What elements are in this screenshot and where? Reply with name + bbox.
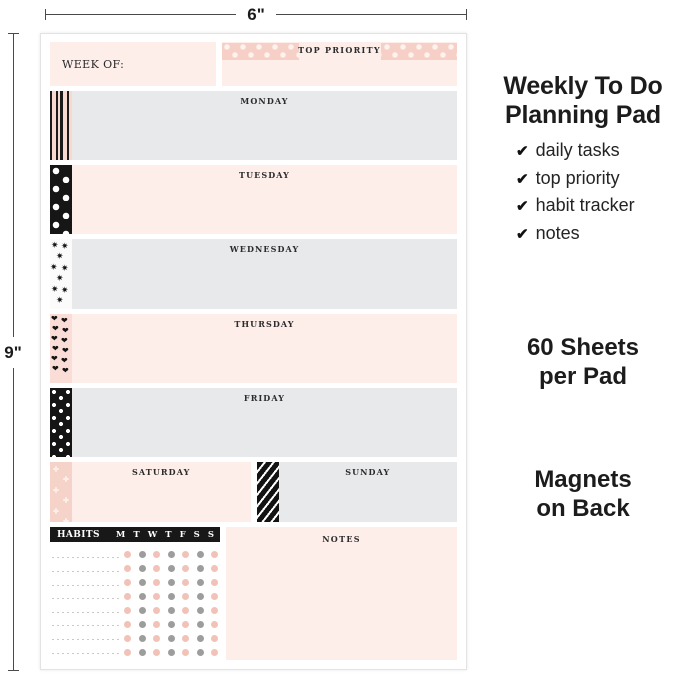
- top-priority-label: TOP PRIORITY: [222, 45, 457, 55]
- habit-write-in-line[interactable]: [52, 625, 120, 626]
- habit-dot[interactable]: [153, 551, 160, 558]
- habit-dot[interactable]: [182, 621, 189, 628]
- day-label-sunday: SUNDAY: [279, 462, 458, 477]
- day-body-monday[interactable]: MONDAY: [72, 91, 457, 160]
- habit-dot[interactable]: [153, 621, 160, 628]
- habit-dot[interactable]: [124, 593, 131, 600]
- habit-day-initials: M T W T F S S: [100, 530, 214, 540]
- height-dimension-ruler: 9": [2, 33, 24, 671]
- sheet-count-callout: 60 Sheets per Pad: [490, 334, 676, 392]
- habit-write-in-line[interactable]: [52, 557, 120, 558]
- day-body-saturday[interactable]: SATURDAY: [72, 462, 251, 522]
- heart-glyph: ❤: [51, 315, 58, 323]
- dimension-line-right: [276, 14, 466, 15]
- day-body-sunday[interactable]: SUNDAY: [279, 462, 458, 522]
- planner-pad: WEEK OF: TOP PRIORITY MONDAY TUESDAY: [40, 33, 467, 670]
- habit-dot[interactable]: [153, 579, 160, 586]
- habit-dot[interactable]: [182, 593, 189, 600]
- dimension-line-left: [46, 14, 236, 15]
- habit-dot[interactable]: [168, 565, 175, 572]
- habit-dot-row: [124, 649, 218, 656]
- habit-dot[interactable]: [153, 635, 160, 642]
- habit-dot[interactable]: [124, 635, 131, 642]
- heart-glyph: ❤: [62, 367, 69, 375]
- product-title-line2: Planning Pad: [490, 101, 676, 130]
- feature-item: ✔ top priority: [516, 168, 676, 190]
- habit-day-initial: W: [148, 530, 158, 540]
- habit-dot[interactable]: [182, 565, 189, 572]
- dimension-line-top: [13, 34, 14, 337]
- star-glyph: ✷: [56, 252, 64, 261]
- day-row-friday[interactable]: FRIDAY: [50, 388, 457, 457]
- star-glyph: ✷: [56, 296, 64, 305]
- habit-dot[interactable]: [139, 607, 146, 614]
- feature-item: ✔ notes: [516, 223, 676, 245]
- week-of-box[interactable]: WEEK OF:: [50, 42, 216, 86]
- habit-dot[interactable]: [168, 621, 175, 628]
- day-row-wednesday[interactable]: ✷ ✷ ✷ ✷ ✷ ✷ ✷ ✷ ✷ WEDNESDAY: [50, 239, 457, 308]
- habit-day-initial: S: [194, 530, 200, 540]
- week-of-label: WEEK OF:: [50, 58, 124, 71]
- planner-pad-content: WEEK OF: TOP PRIORITY MONDAY TUESDAY: [50, 42, 457, 660]
- check-icon: ✔: [516, 226, 529, 244]
- habit-day-initial: T: [165, 530, 171, 540]
- habit-dot[interactable]: [153, 607, 160, 614]
- day-label-friday: FRIDAY: [72, 388, 457, 403]
- notes-box[interactable]: NOTES: [226, 527, 457, 660]
- feature-label: daily tasks: [536, 140, 620, 162]
- habit-tracker-header: HABITS M T W T F S S: [50, 527, 220, 542]
- habit-dot[interactable]: [153, 593, 160, 600]
- product-title: Weekly To Do Planning Pad: [490, 72, 676, 130]
- habit-dot[interactable]: [211, 635, 218, 642]
- habit-dot[interactable]: [139, 579, 146, 586]
- weekend-row: SATURDAY SUNDAY: [50, 462, 457, 522]
- habit-dot[interactable]: [168, 649, 175, 656]
- habit-dot[interactable]: [197, 579, 204, 586]
- washi-tape-star-icon: ✷ ✷ ✷ ✷ ✷ ✷ ✷ ✷ ✷: [50, 239, 72, 308]
- habit-dot[interactable]: [211, 579, 218, 586]
- habit-write-in-line[interactable]: [52, 653, 120, 654]
- habit-day-initial: T: [133, 530, 139, 540]
- day-body-wednesday[interactable]: WEDNESDAY: [72, 239, 457, 308]
- habit-dot[interactable]: [153, 565, 160, 572]
- habit-tracker[interactable]: HABITS M T W T F S S: [50, 527, 220, 660]
- feature-label: top priority: [536, 168, 620, 190]
- width-dimension-ruler: 6": [45, 3, 467, 25]
- heart-glyph: ❤: [61, 337, 68, 345]
- habit-dot[interactable]: [168, 607, 175, 614]
- dimension-cap-bottom: [8, 670, 19, 671]
- habit-dot[interactable]: [139, 621, 146, 628]
- habit-write-in-line[interactable]: [52, 571, 120, 572]
- washi-tape-stripes-icon: [50, 91, 72, 160]
- height-dimension-label: 9": [4, 337, 22, 368]
- star-glyph: ✷: [50, 263, 58, 272]
- habit-dot[interactable]: [211, 565, 218, 572]
- sheet-count-line2: per Pad: [490, 363, 676, 392]
- dimension-cap-right: [466, 9, 467, 20]
- washi-tape-diagonal-stripe-icon: [257, 462, 279, 522]
- product-title-line1: Weekly To Do: [490, 72, 676, 101]
- notes-label: NOTES: [226, 527, 457, 544]
- top-priority-box[interactable]: TOP PRIORITY: [222, 42, 457, 86]
- habit-dot[interactable]: [197, 635, 204, 642]
- day-row-thursday[interactable]: ❤ ❤ ❤ ❤ ❤ ❤ ❤ ❤ ❤ ❤ ❤ ❤ THURSDAY: [50, 314, 457, 383]
- pad-header-row: WEEK OF: TOP PRIORITY: [50, 42, 457, 86]
- habit-dot[interactable]: [124, 649, 131, 656]
- check-icon: ✔: [516, 171, 529, 189]
- heart-glyph: ❤: [52, 345, 59, 353]
- habit-tracker-title: HABITS: [57, 530, 100, 540]
- habit-dot[interactable]: [139, 565, 146, 572]
- washi-tape-floral-icon: [50, 462, 72, 522]
- washi-tape-small-dot-icon: [50, 388, 72, 457]
- habit-checkbox-dots[interactable]: [124, 547, 220, 660]
- day-row-tuesday[interactable]: TUESDAY: [50, 165, 457, 234]
- star-glyph: ✷: [51, 241, 59, 250]
- day-body-friday[interactable]: FRIDAY: [72, 388, 457, 457]
- habit-dot[interactable]: [182, 551, 189, 558]
- habit-dot[interactable]: [168, 593, 175, 600]
- day-row-sunday[interactable]: SUNDAY: [257, 462, 458, 522]
- heart-glyph: ❤: [52, 365, 59, 373]
- habit-dot-row: [124, 621, 218, 628]
- sheet-count-line1: 60 Sheets: [490, 334, 676, 363]
- habit-dot[interactable]: [182, 607, 189, 614]
- habit-dot[interactable]: [211, 607, 218, 614]
- day-body-thursday[interactable]: THURSDAY: [72, 314, 457, 383]
- washi-tape-heart-icon: ❤ ❤ ❤ ❤ ❤ ❤ ❤ ❤ ❤ ❤ ❤ ❤: [50, 314, 72, 383]
- habit-dot[interactable]: [139, 649, 146, 656]
- day-row-saturday[interactable]: SATURDAY: [50, 462, 251, 522]
- habit-dot-row: [124, 635, 218, 642]
- habit-dot[interactable]: [211, 649, 218, 656]
- habit-dot[interactable]: [153, 649, 160, 656]
- habit-dot[interactable]: [139, 551, 146, 558]
- day-label-wednesday: WEDNESDAY: [72, 239, 457, 254]
- habit-dot[interactable]: [211, 551, 218, 558]
- day-row-monday[interactable]: MONDAY: [50, 91, 457, 160]
- habit-dot[interactable]: [197, 607, 204, 614]
- magnet-callout: Magnets on Back: [490, 466, 676, 524]
- star-glyph: ✷: [61, 242, 69, 251]
- habit-dot[interactable]: [197, 649, 204, 656]
- heart-glyph: ❤: [61, 317, 68, 325]
- habit-dot[interactable]: [182, 649, 189, 656]
- dimension-line-bottom: [13, 368, 14, 671]
- heart-glyph: ❤: [62, 327, 69, 335]
- habit-dot[interactable]: [139, 635, 146, 642]
- heart-glyph: ❤: [52, 325, 59, 333]
- habit-write-in-line[interactable]: [52, 585, 120, 586]
- habit-dot[interactable]: [211, 593, 218, 600]
- habit-day-initial: F: [180, 530, 186, 540]
- width-dimension-label: 6": [236, 6, 276, 23]
- habit-dot[interactable]: [124, 565, 131, 572]
- habit-dot[interactable]: [197, 565, 204, 572]
- washi-tape-polka-dot-icon: [50, 165, 72, 234]
- magnet-line2: on Back: [490, 495, 676, 524]
- star-glyph: ✷: [51, 285, 59, 294]
- habit-dot[interactable]: [124, 551, 131, 558]
- habit-dot[interactable]: [124, 579, 131, 586]
- day-label-tuesday: TUESDAY: [72, 165, 457, 180]
- feature-list: ✔ daily tasks ✔ top priority ✔ habit tra…: [490, 140, 676, 244]
- feature-label: habit tracker: [536, 195, 635, 217]
- habit-write-in-line[interactable]: [52, 612, 120, 613]
- habit-dot-row: [124, 565, 218, 572]
- habit-dot[interactable]: [197, 621, 204, 628]
- heart-glyph: ❤: [62, 347, 69, 355]
- magnet-line1: Magnets: [490, 466, 676, 495]
- habit-dot[interactable]: [197, 551, 204, 558]
- star-glyph: ✷: [56, 274, 64, 283]
- habit-dot-row: [124, 551, 218, 558]
- feature-label: notes: [536, 223, 580, 245]
- day-label-thursday: THURSDAY: [72, 314, 457, 329]
- habit-dot[interactable]: [168, 551, 175, 558]
- habit-day-initial: S: [208, 530, 214, 540]
- habit-dot[interactable]: [139, 593, 146, 600]
- habit-write-in-lines[interactable]: [50, 547, 124, 660]
- heart-glyph: ❤: [51, 355, 58, 363]
- star-glyph: ✷: [61, 264, 69, 273]
- day-body-tuesday[interactable]: TUESDAY: [72, 165, 457, 234]
- habit-dot[interactable]: [124, 607, 131, 614]
- habit-dot[interactable]: [168, 579, 175, 586]
- check-icon: ✔: [516, 143, 529, 161]
- heart-glyph: ❤: [61, 357, 68, 365]
- habit-dot[interactable]: [124, 621, 131, 628]
- habit-dot-row: [124, 593, 218, 600]
- habit-dot-row: [124, 579, 218, 586]
- feature-item: ✔ daily tasks: [516, 140, 676, 162]
- habit-dot-row: [124, 607, 218, 614]
- check-icon: ✔: [516, 198, 529, 216]
- day-label-saturday: SATURDAY: [72, 462, 251, 477]
- habit-dot[interactable]: [168, 635, 175, 642]
- heart-glyph: ❤: [51, 335, 58, 343]
- habit-dot[interactable]: [197, 593, 204, 600]
- habit-dot[interactable]: [211, 621, 218, 628]
- habit-tracker-grid[interactable]: [50, 542, 220, 660]
- star-glyph: ✷: [61, 286, 69, 295]
- habit-dot[interactable]: [182, 579, 189, 586]
- feature-item: ✔ habit tracker: [516, 195, 676, 217]
- habit-dot[interactable]: [182, 635, 189, 642]
- day-label-monday: MONDAY: [72, 91, 457, 106]
- habit-day-initial: M: [116, 530, 125, 540]
- habit-write-in-line[interactable]: [52, 639, 120, 640]
- habit-write-in-line[interactable]: [52, 598, 120, 599]
- product-copy: Weekly To Do Planning Pad ✔ daily tasks …: [490, 72, 676, 250]
- bottom-row: HABITS M T W T F S S N: [50, 527, 457, 660]
